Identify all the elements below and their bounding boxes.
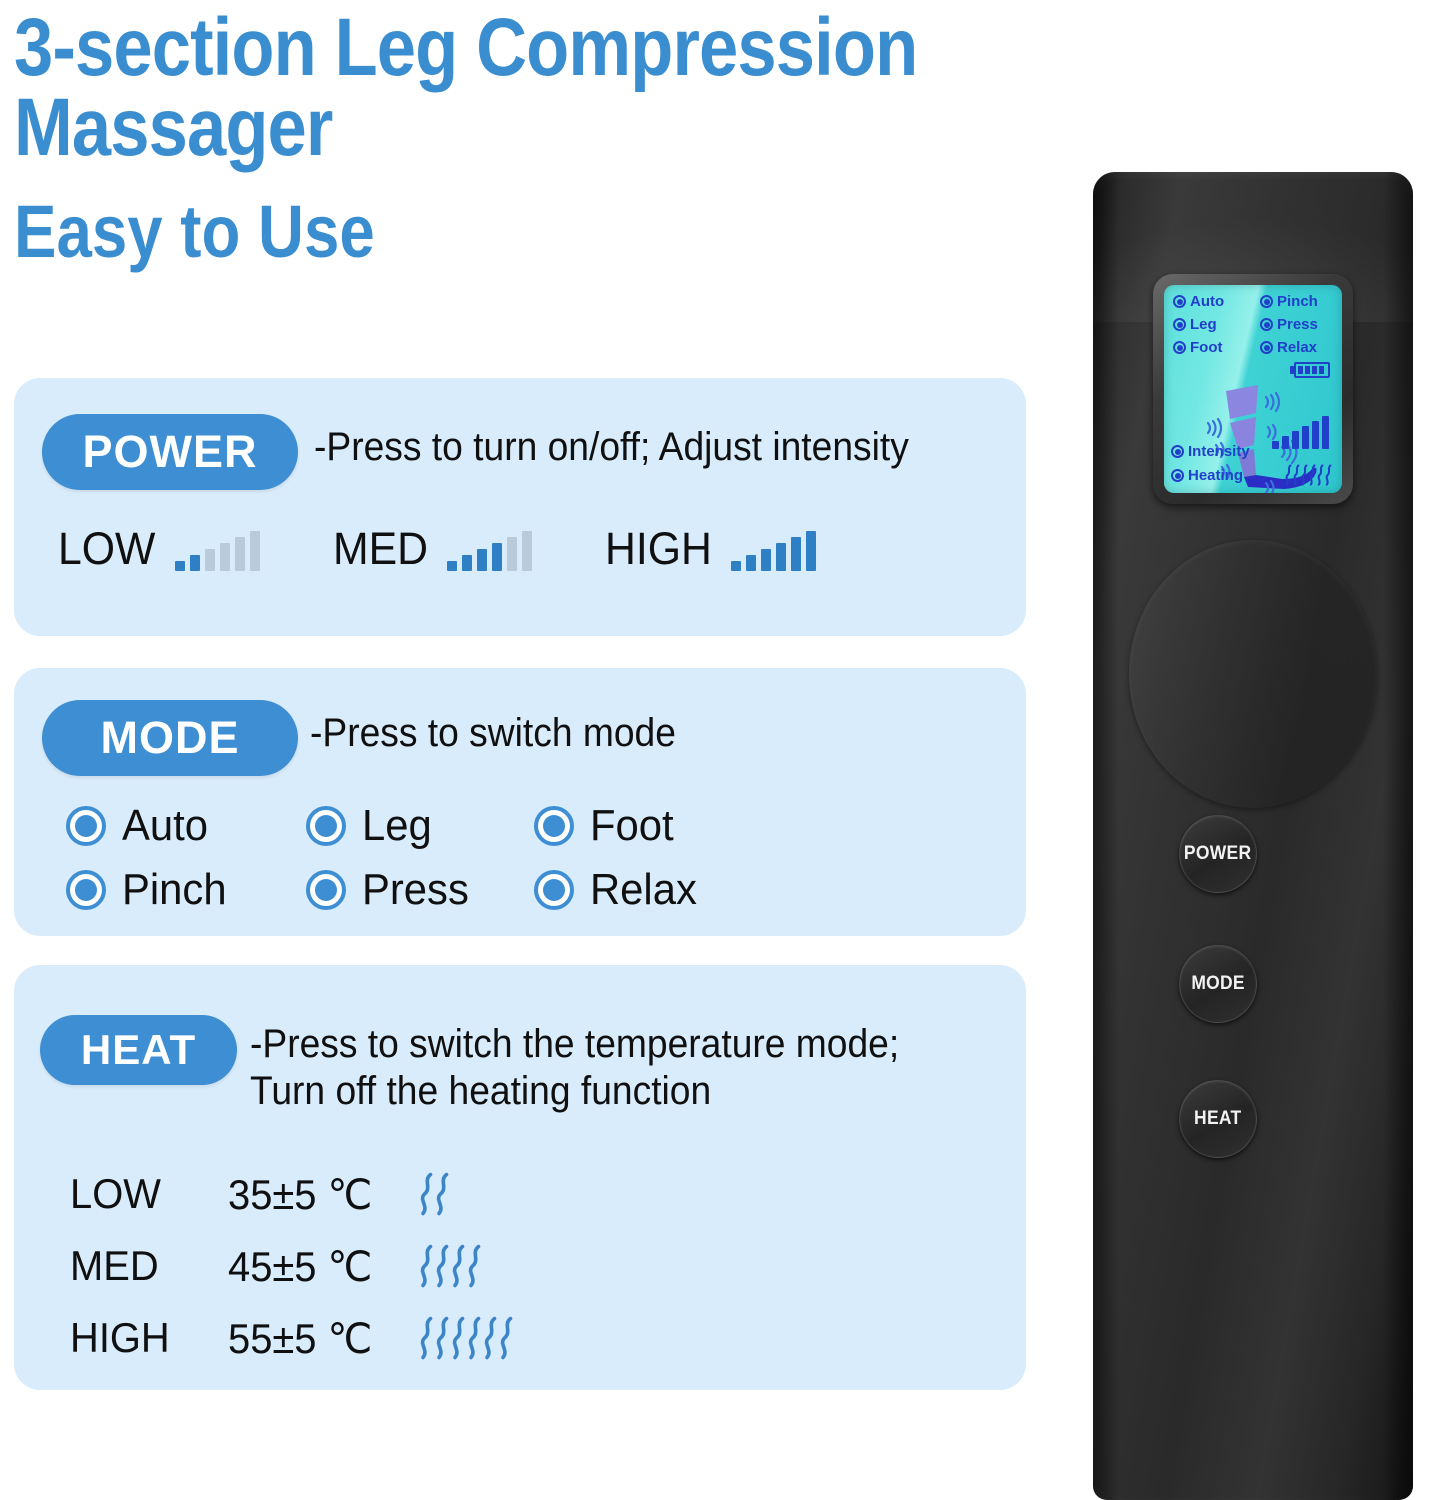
- heat-wave-icon: [500, 1315, 515, 1361]
- heat-wave-icon: [1317, 464, 1325, 486]
- power-pill-wrap: POWER: [42, 414, 298, 490]
- intensity-level-low: LOW: [58, 526, 265, 571]
- mode-pill-wrap: MODE: [42, 700, 298, 776]
- heat-wave-icon: [1285, 464, 1293, 486]
- mode-option-pinch[interactable]: Pinch: [66, 868, 306, 912]
- heat-description-line2: Turn off the heating function: [250, 1068, 957, 1115]
- heat-wave-icon: [1309, 464, 1317, 486]
- heat-wave-icon: [1293, 464, 1301, 486]
- heat-temperature-value: 45±5 ℃: [228, 1242, 410, 1291]
- lcd-intensity-bar: [1272, 441, 1279, 449]
- heat-wave-icon: [436, 1243, 451, 1289]
- radio-icon: [534, 806, 574, 846]
- radio-icon: [1260, 295, 1273, 308]
- mode-option-foot[interactable]: Foot: [534, 804, 703, 848]
- mode-pill-label: MODE: [42, 700, 298, 776]
- mode-options-grid: AutoLegFootPinchPressRelax: [66, 804, 703, 912]
- heat-level-label: LOW: [70, 1170, 220, 1218]
- mode-button[interactable]: MODE: [1179, 945, 1257, 1023]
- intensity-level-label: LOW: [58, 526, 155, 571]
- heat-row: LOW35±5 ℃: [70, 1158, 516, 1230]
- heat-description-line1: -Press to switch the temperature mode;: [250, 1021, 957, 1068]
- heat-row: MED45±5 ℃: [70, 1230, 516, 1302]
- mode-option-press[interactable]: Press: [306, 868, 534, 912]
- battery-segment: [1298, 366, 1303, 374]
- heat-pill-label: HEAT: [40, 1015, 237, 1085]
- lcd-mode-press: Press: [1260, 317, 1318, 332]
- lcd-intensity-bar: [1292, 431, 1299, 449]
- heat-waves-group: [420, 1242, 484, 1290]
- heat-level-label: HIGH: [70, 1314, 220, 1362]
- mode-option-label: Relax: [590, 868, 697, 912]
- battery-segments: [1294, 362, 1330, 378]
- signal-bars-icon: [731, 529, 821, 571]
- radio-icon: [66, 870, 106, 910]
- remote-controller: Auto Leg Foot Pinch Press Relax: [1093, 172, 1413, 1500]
- radio-icon: [66, 806, 106, 846]
- heat-wave-icon: [420, 1243, 435, 1289]
- power-button-label: POWER: [1184, 843, 1251, 865]
- lcd-label-pinch: Pinch: [1277, 294, 1318, 309]
- intensity-level-med: MED: [333, 526, 537, 571]
- page-title-line2: Massager: [14, 88, 1149, 168]
- heat-wave-icon: [452, 1315, 467, 1361]
- power-panel: POWER -Press to turn on/off; Adjust inte…: [14, 378, 1026, 636]
- lcd-label-leg: Leg: [1190, 317, 1217, 332]
- heat-level-label: MED: [70, 1242, 220, 1290]
- page-subtitle: Easy to Use: [14, 195, 1149, 269]
- heat-wave-icon: [420, 1171, 435, 1217]
- mode-option-label: Auto: [122, 804, 208, 848]
- heat-waves-group: [420, 1170, 452, 1218]
- battery-icon: [1290, 362, 1330, 378]
- mode-option-label: Leg: [362, 804, 432, 848]
- radio-icon: [306, 806, 346, 846]
- heat-wave-icon: [468, 1243, 483, 1289]
- radio-icon: [1173, 295, 1186, 308]
- heat-wave-icon: [436, 1315, 451, 1361]
- radio-icon: [1171, 445, 1184, 458]
- heat-row: HIGH55±5 ℃: [70, 1302, 516, 1374]
- lcd-bezel: Auto Leg Foot Pinch Press Relax: [1153, 274, 1353, 504]
- intensity-level-high: HIGH: [605, 526, 822, 571]
- heat-description: -Press to switch the temperature mode; T…: [250, 1021, 1010, 1115]
- mode-option-auto[interactable]: Auto: [66, 804, 306, 848]
- heat-wave-icon: [468, 1315, 483, 1361]
- lcd-screen: Auto Leg Foot Pinch Press Relax: [1164, 285, 1342, 493]
- mode-option-leg[interactable]: Leg: [306, 804, 534, 848]
- battery-segment: [1312, 366, 1317, 374]
- lcd-label-foot: Foot: [1190, 340, 1222, 355]
- lcd-heat-waves-icon: [1285, 464, 1333, 486]
- battery-segment: [1319, 366, 1324, 374]
- heat-wave-icon: [1301, 464, 1309, 486]
- lcd-label-relax: Relax: [1277, 340, 1317, 355]
- lcd-mode-auto: Auto: [1173, 294, 1224, 309]
- heat-wave-icon: [420, 1315, 435, 1361]
- lcd-mode-leg: Leg: [1173, 317, 1217, 332]
- radio-icon: [1171, 469, 1184, 482]
- battery-segment: [1305, 366, 1310, 374]
- mode-option-label: Foot: [590, 804, 674, 848]
- radio-icon: [1260, 318, 1273, 331]
- lcd-intensity-bar: [1312, 421, 1319, 449]
- power-description: -Press to turn on/off; Adjust intensity: [314, 424, 909, 471]
- mode-option-relax[interactable]: Relax: [534, 868, 703, 912]
- power-button[interactable]: POWER: [1179, 815, 1257, 893]
- radio-icon: [1173, 318, 1186, 331]
- lcd-mode-relax: Relax: [1260, 340, 1317, 355]
- lcd-mode-pinch: Pinch: [1260, 294, 1318, 309]
- radio-icon: [1260, 341, 1273, 354]
- intensity-level-label: HIGH: [605, 526, 712, 571]
- signal-bars-icon: [447, 529, 537, 571]
- mode-option-label: Press: [362, 868, 469, 912]
- power-pill-label: POWER: [42, 414, 298, 490]
- heat-wave-icon: [484, 1315, 499, 1361]
- lcd-mode-foot: Foot: [1173, 340, 1222, 355]
- lcd-indicator-heating: Heating: [1171, 468, 1243, 483]
- mode-description: -Press to switch mode: [310, 710, 676, 757]
- lcd-intensity-bars-icon: [1272, 413, 1332, 449]
- lcd-intensity-bar: [1322, 416, 1329, 449]
- heat-button[interactable]: HEAT: [1179, 1080, 1257, 1158]
- lcd-intensity-bar: [1282, 436, 1289, 449]
- heat-wave-icon: [436, 1171, 451, 1217]
- heat-wave-icon: [1325, 464, 1333, 486]
- controller-right-edge: [1383, 172, 1413, 1500]
- radio-icon: [534, 870, 574, 910]
- mode-button-label: MODE: [1191, 973, 1245, 995]
- lcd-label-intensity: Intensity: [1188, 444, 1250, 459]
- lcd-label-press: Press: [1277, 317, 1318, 332]
- controller-left-edge: [1093, 172, 1119, 1500]
- heat-panel: HEAT -Press to switch the temperature mo…: [14, 965, 1026, 1390]
- lcd-label-heating: Heating: [1188, 468, 1243, 483]
- lcd-indicator-intensity: Intensity: [1171, 444, 1250, 459]
- heat-waves-group: [420, 1314, 516, 1362]
- radio-icon: [306, 870, 346, 910]
- radio-icon: [1173, 341, 1186, 354]
- power-intensity-row: LOWMEDHIGH: [58, 526, 821, 571]
- heat-temperature-value: 35±5 ℃: [228, 1170, 410, 1219]
- mode-panel: MODE -Press to switch mode AutoLegFootPi…: [14, 668, 1026, 936]
- heat-wave-icon: [452, 1243, 467, 1289]
- controller-grip: [1129, 540, 1377, 808]
- heat-temperature-value: 55±5 ℃: [228, 1314, 410, 1363]
- lcd-intensity-bar: [1302, 426, 1309, 449]
- heat-pill-wrap: HEAT: [40, 1015, 237, 1085]
- heat-temperature-table: LOW35±5 ℃MED45±5 ℃HIGH55±5 ℃: [70, 1158, 516, 1374]
- signal-bars-icon: [175, 529, 265, 571]
- heat-button-label: HEAT: [1194, 1108, 1241, 1130]
- mode-option-label: Pinch: [122, 868, 227, 912]
- lcd-label-auto: Auto: [1190, 294, 1224, 309]
- intensity-level-label: MED: [333, 526, 428, 571]
- page-title-line1: 3-section Leg Compression: [14, 8, 1149, 88]
